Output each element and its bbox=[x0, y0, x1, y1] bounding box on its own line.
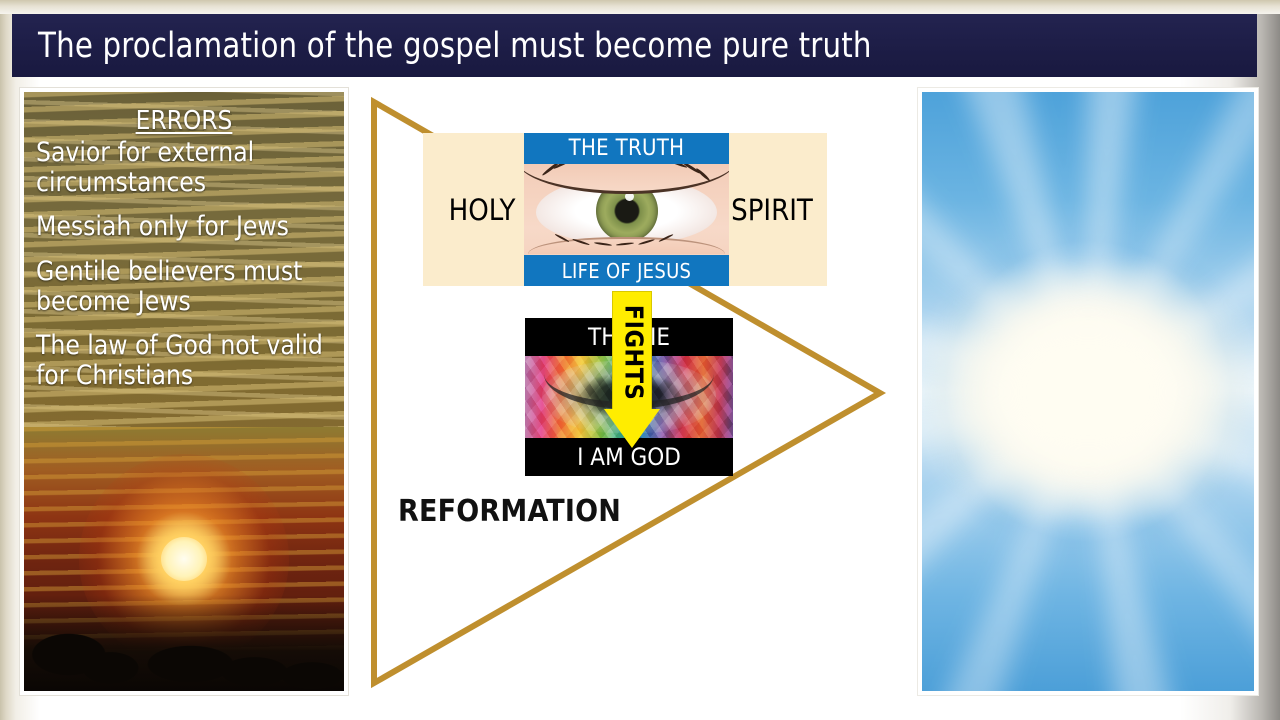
errors-text-block: ERRORS Savior for external circumstances… bbox=[24, 92, 344, 691]
list-item: Gentile believers must become Jews bbox=[36, 257, 323, 317]
truth-block: HOLY SPIRIT THE TRUTH LIFE OF JESUS bbox=[423, 133, 827, 286]
spirit-label: SPIRIT bbox=[723, 133, 821, 286]
life-of-jesus-label: LIFE OF JESUS bbox=[524, 255, 729, 286]
sunset-clouds-photo: ERRORS Savior for external circumstances… bbox=[24, 92, 344, 691]
bright-sky-sunburst-photo bbox=[922, 92, 1254, 691]
list-item: Savior for external circumstances bbox=[36, 138, 323, 198]
slide-title-bar: The proclamation of the gospel must beco… bbox=[12, 14, 1257, 77]
list-item: The law of God not valid for Christians bbox=[36, 331, 323, 391]
errors-heading: ERRORS bbox=[36, 106, 332, 136]
page-title: The proclamation of the gospel must beco… bbox=[38, 26, 872, 66]
fights-down-arrow-icon: FIGHTS bbox=[604, 291, 660, 448]
errors-panel: ERRORS Savior for external circumstances… bbox=[20, 88, 348, 695]
holy-label: HOLY bbox=[437, 133, 527, 286]
sun-core-glow bbox=[923, 267, 1253, 517]
reformation-caption: REFORMATION bbox=[398, 494, 621, 529]
lower-eyelid bbox=[528, 237, 725, 254]
list-item: Messiah only for Jews bbox=[36, 212, 323, 242]
fights-label: FIGHTS bbox=[620, 294, 649, 412]
green-human-eye-photo: THE TRUTH LIFE OF JESUS bbox=[524, 133, 729, 286]
sky-panel bbox=[918, 88, 1258, 695]
the-truth-label: THE TRUTH bbox=[524, 133, 729, 164]
arrow-head bbox=[604, 409, 660, 448]
reformation-diagram-panel: HOLY SPIRIT THE TRUTH LIFE OF JESUS THE … bbox=[360, 88, 905, 695]
